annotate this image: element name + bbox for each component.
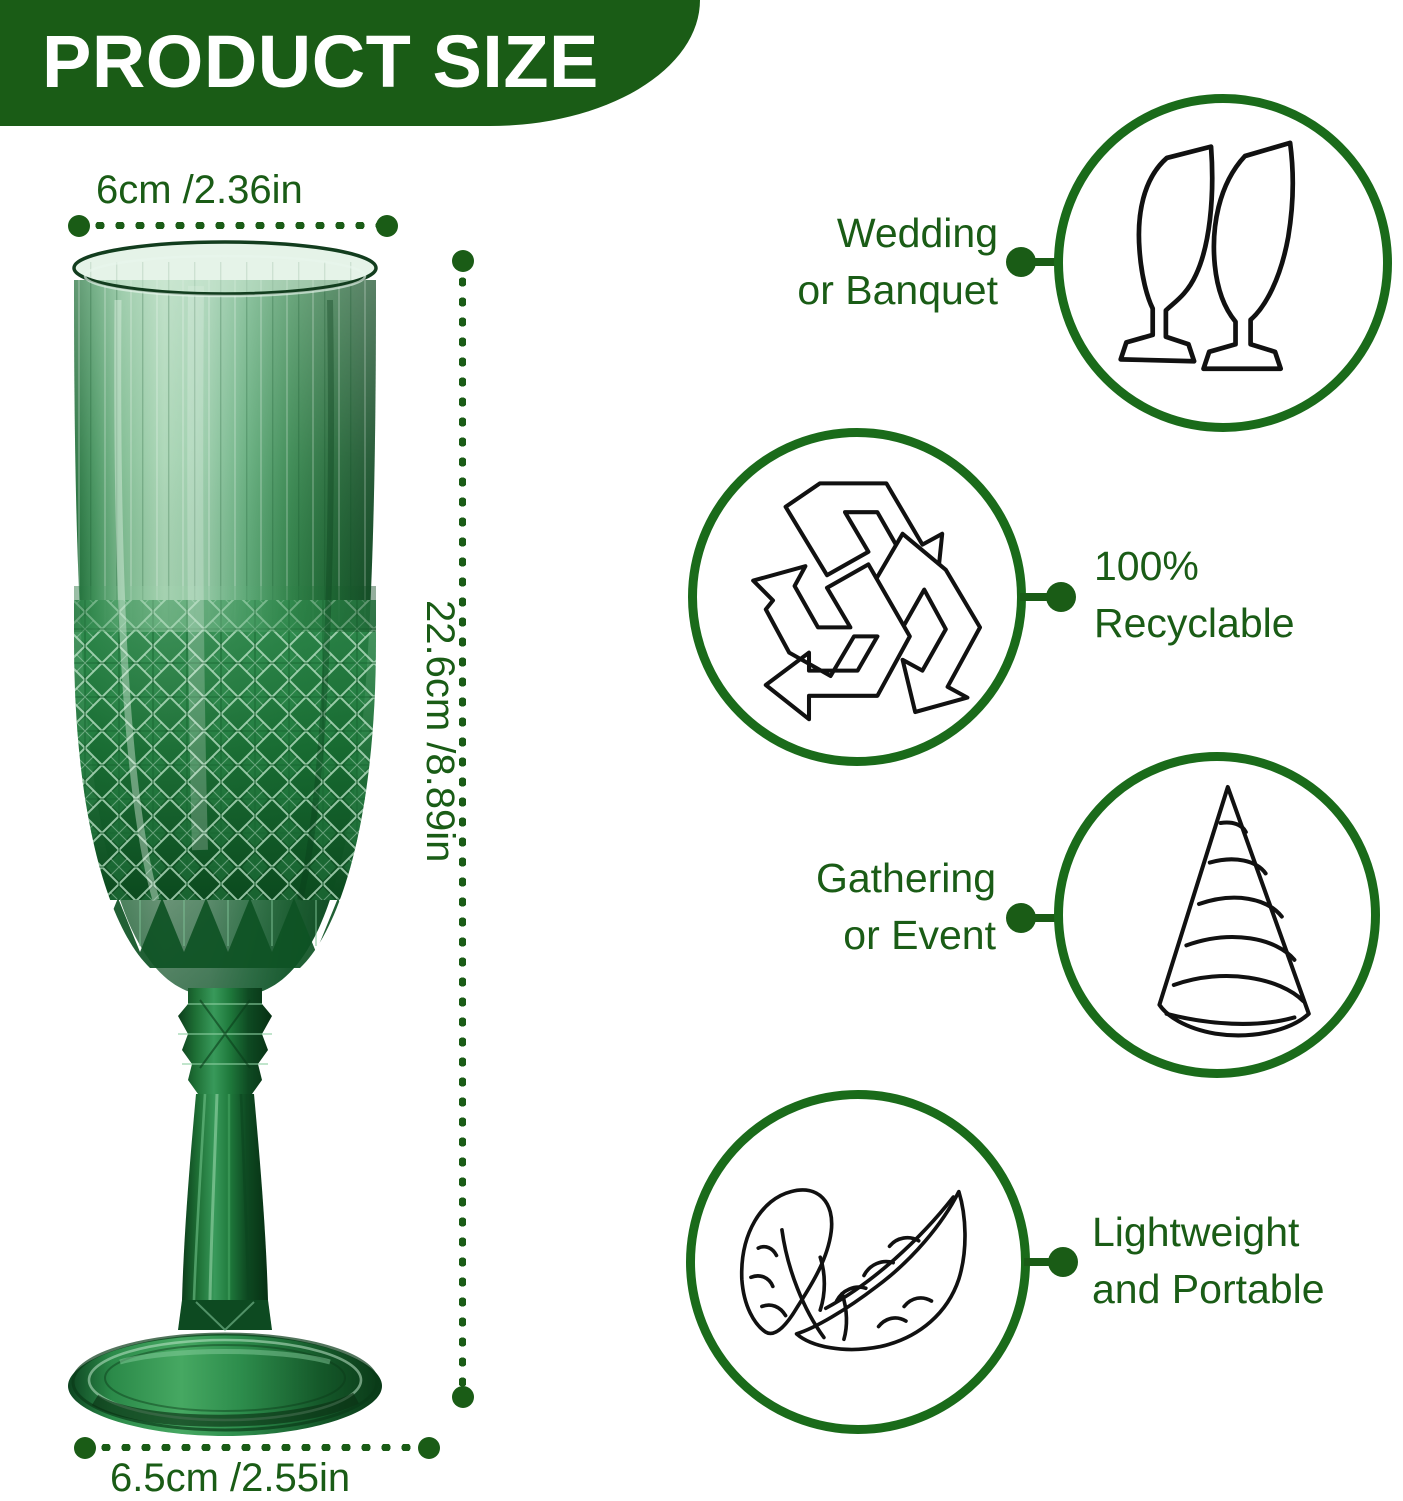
feature-circle-recyclable — [688, 428, 1026, 766]
feature-label-wedding: Wedding or Banquet — [638, 205, 998, 319]
glass-base — [68, 1334, 382, 1436]
dimension-dot-bottom-right — [418, 1437, 440, 1459]
dimension-label-height: 22.6cm /8.89in — [417, 600, 462, 862]
connector-dot-lightweight — [1048, 1247, 1078, 1277]
dimension-line-bottom — [96, 1444, 420, 1451]
feature-line2: Recyclable — [1094, 595, 1403, 652]
feature-circle-lightweight — [686, 1090, 1030, 1434]
connector-dot-recyclable — [1046, 582, 1076, 612]
dimension-dot-top-right — [376, 215, 398, 237]
dimension-line-top — [90, 222, 380, 229]
feature-line1: Lightweight — [1092, 1204, 1403, 1261]
dimension-dot-height-bottom — [452, 1386, 474, 1408]
feature-line1: 100% — [1094, 538, 1403, 595]
feature-label-lightweight: Lightweight and Portable — [1092, 1204, 1403, 1318]
glass-stem — [178, 988, 272, 1330]
clinking-champagne-glasses-icon — [1068, 109, 1388, 429]
feature-circle-gathering — [1054, 752, 1380, 1078]
dimension-dot-height-top — [452, 250, 474, 272]
dimension-label-top-width: 6cm /2.36in — [96, 168, 303, 213]
dimension-dot-top-left — [68, 215, 90, 237]
feature-label-recyclable: 100% Recyclable — [1094, 538, 1403, 652]
glass-bowl — [74, 242, 376, 992]
feature-circle-wedding — [1054, 94, 1392, 432]
dimension-dot-bottom-left — [74, 1437, 96, 1459]
feature-label-gathering: Gathering or Event — [636, 850, 996, 964]
feature-line1: Wedding — [638, 205, 998, 262]
recycle-icon — [710, 451, 1016, 757]
feature-line2: or Event — [636, 907, 996, 964]
party-hat-icon — [1073, 769, 1379, 1075]
dimension-label-base-width: 6.5cm /2.55in — [110, 1456, 350, 1501]
feature-line2: and Portable — [1092, 1261, 1403, 1318]
feather-icon — [709, 1115, 1019, 1425]
feature-line2: or Banquet — [638, 262, 998, 319]
feature-line1: Gathering — [636, 850, 996, 907]
